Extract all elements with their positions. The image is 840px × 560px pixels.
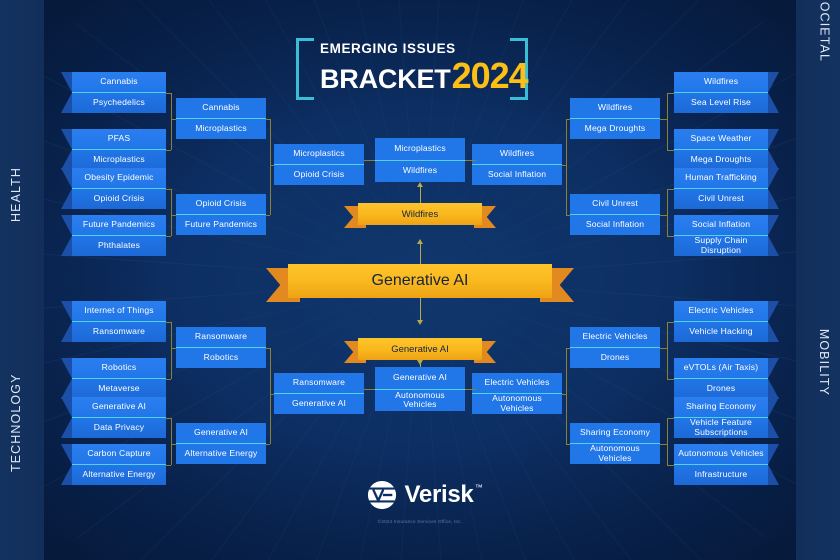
matchup-arrow-tail bbox=[61, 129, 72, 170]
matchup-arrow-tail bbox=[61, 397, 72, 438]
connector-v bbox=[667, 189, 668, 236]
matchup-round2-environmental-1[interactable]: Civil UnrestSocial Inflation bbox=[570, 194, 660, 235]
competitor-top[interactable]: Robotics bbox=[72, 358, 166, 379]
bottom-half-winner-ribbon: Generative AI bbox=[344, 338, 496, 360]
matchup-round1-environmental-0[interactable]: WildfiresSea Level Rise bbox=[674, 72, 768, 113]
connector-v bbox=[270, 119, 271, 215]
matchup-semifinal-bottom[interactable]: Generative AIAutonomous Vehicles bbox=[375, 367, 465, 411]
matchup-arrow-tail bbox=[61, 358, 72, 399]
matchup-round1-mobility-1[interactable]: eVTOLs (Air Taxis)Drones bbox=[674, 358, 768, 399]
connector-v bbox=[171, 189, 172, 236]
matchup-arrow-tail bbox=[61, 72, 72, 113]
connector-h bbox=[364, 389, 375, 390]
competitor-bottom[interactable]: Metaverse bbox=[72, 379, 166, 399]
matchup-arrow-tail bbox=[61, 444, 72, 485]
competitor-bottom[interactable]: Mega Droughts bbox=[674, 150, 768, 170]
competitor-bottom[interactable]: Robotics bbox=[176, 348, 266, 368]
matchup-arrow-tail bbox=[768, 168, 779, 209]
competitor-top[interactable]: Social Inflation bbox=[674, 215, 768, 236]
competitor-top[interactable]: Microplastics bbox=[274, 144, 364, 165]
competitor-top[interactable]: Electric Vehicles bbox=[674, 301, 768, 322]
matchup-round1-technology-2[interactable]: Generative AIData Privacy bbox=[72, 397, 166, 438]
connector-h bbox=[465, 160, 476, 161]
connector-h bbox=[667, 465, 674, 466]
matchup-round1-environmental-3[interactable]: Social InflationSupply Chain Disruption bbox=[674, 215, 768, 256]
competitor-bottom[interactable]: Ransomware bbox=[72, 322, 166, 342]
competitor-top[interactable]: Space Weather bbox=[674, 129, 768, 150]
competitor-bottom[interactable]: Future Pandemics bbox=[176, 215, 266, 235]
competitor-top[interactable]: Autonomous Vehicles bbox=[674, 444, 768, 465]
matchup-round1-technology-0[interactable]: Internet of ThingsRansomware bbox=[72, 301, 166, 342]
connector-h bbox=[667, 418, 674, 419]
matchup-arrow-tail bbox=[768, 358, 779, 399]
connector-h bbox=[166, 465, 171, 466]
connector-h bbox=[667, 93, 674, 94]
competitor-top[interactable]: Ransomware bbox=[176, 327, 266, 348]
connector-h bbox=[171, 119, 176, 120]
competitor-top[interactable]: PFAS bbox=[72, 129, 166, 150]
competitor-top[interactable]: Wildfires bbox=[674, 72, 768, 93]
connector-h bbox=[667, 236, 674, 237]
matchup-round1-health-1[interactable]: PFASMicroplastics bbox=[72, 129, 166, 170]
copyright-text: ©2024 Insurance Services Office, Inc. bbox=[0, 519, 840, 524]
connector-v bbox=[270, 348, 271, 444]
competitor-top[interactable]: Opioid Crisis bbox=[176, 194, 266, 215]
matchup-round2-environmental-0[interactable]: WildfiresMega Droughts bbox=[570, 98, 660, 139]
connector-h bbox=[660, 348, 667, 349]
connector-h bbox=[364, 160, 375, 161]
connector-h bbox=[171, 215, 176, 216]
verisk-wordmark: Verisk™ bbox=[405, 481, 474, 509]
competitor-bottom[interactable]: Opioid Crisis bbox=[72, 189, 166, 209]
competitor-bottom[interactable]: Drones bbox=[674, 379, 768, 399]
arrow-to-champion-top bbox=[420, 244, 421, 264]
connector-v bbox=[566, 119, 567, 215]
competitor-bottom[interactable]: Opioid Crisis bbox=[274, 165, 364, 185]
matchup-round2-technology-1[interactable]: Generative AIAlternative Energy bbox=[176, 423, 266, 464]
competitor-bottom[interactable]: Sea Level Rise bbox=[674, 93, 768, 113]
matchup-round2-mobility-1[interactable]: Sharing EconomyAutonomous Vehicles bbox=[570, 423, 660, 464]
matchup-round1-technology-1[interactable]: RoboticsMetaverse bbox=[72, 358, 166, 399]
connector-h bbox=[660, 119, 667, 120]
connector-h bbox=[566, 444, 570, 445]
competitor-top[interactable]: Generative AI bbox=[72, 397, 166, 418]
competitor-bottom[interactable]: Vehicle Hacking bbox=[674, 322, 768, 342]
connector-h bbox=[667, 150, 674, 151]
connector-h bbox=[562, 165, 566, 166]
competitor-top[interactable]: Generative AI bbox=[375, 367, 465, 390]
matchup-arrow-tail bbox=[768, 72, 779, 113]
connector-v bbox=[667, 418, 668, 465]
bottom-half-winner-ribbon-label: Generative AI bbox=[358, 338, 482, 360]
connector-h bbox=[266, 444, 270, 445]
connector-h bbox=[266, 215, 270, 216]
connector-h bbox=[660, 215, 667, 216]
matchup-arrow-tail bbox=[61, 301, 72, 342]
trademark-symbol: ™ bbox=[475, 483, 483, 492]
matchup-arrow-tail bbox=[768, 215, 779, 256]
connector-h bbox=[667, 322, 674, 323]
matchup-round1-technology-3[interactable]: Carbon CaptureAlternative Energy bbox=[72, 444, 166, 485]
competitor-bottom[interactable]: Supply Chain Disruption bbox=[674, 236, 768, 256]
connector-h bbox=[270, 394, 274, 395]
champion-ribbon: Generative AI bbox=[266, 264, 574, 298]
competitor-bottom[interactable]: Mega Droughts bbox=[570, 119, 660, 139]
competitor-top[interactable]: Ransomware bbox=[274, 373, 364, 394]
arrow-to-bottom-half-winner bbox=[420, 360, 421, 367]
arrow-to-champion-bottom bbox=[420, 298, 421, 320]
competitor-top[interactable]: Electric Vehicles bbox=[472, 373, 562, 394]
connector-h bbox=[166, 236, 171, 237]
connector-h bbox=[171, 348, 176, 349]
matchup-round2-health-1[interactable]: Opioid CrisisFuture Pandemics bbox=[176, 194, 266, 235]
competitor-bottom[interactable]: Generative AI bbox=[274, 394, 364, 414]
matchup-round2-health-0[interactable]: CannabisMicroplastics bbox=[176, 98, 266, 139]
matchup-round1-mobility-3[interactable]: Autonomous VehiclesInfrastructure bbox=[674, 444, 768, 485]
connector-h bbox=[667, 189, 674, 190]
competitor-top[interactable]: Wildfires bbox=[570, 98, 660, 119]
connector-h bbox=[166, 379, 171, 380]
competitor-top[interactable]: Microplastics bbox=[375, 138, 465, 161]
matchup-round1-environmental-2[interactable]: Human TraffickingCivil Unrest bbox=[674, 168, 768, 209]
competitor-bottom[interactable]: Autonomous Vehicles bbox=[570, 444, 660, 464]
competitor-bottom[interactable]: Psychedelics bbox=[72, 93, 166, 113]
connector-h bbox=[465, 389, 476, 390]
matchup-round2-mobility-0[interactable]: Electric VehiclesDrones bbox=[570, 327, 660, 368]
footer: Verisk™ ©2024 Insurance Services Office,… bbox=[0, 480, 840, 524]
matchup-arrow-tail bbox=[768, 129, 779, 170]
top-half-winner-ribbon: Wildfires bbox=[344, 203, 496, 225]
competitor-top[interactable]: Human Trafficking bbox=[674, 168, 768, 189]
connector-h bbox=[562, 394, 566, 395]
matchup-semifinal-top[interactable]: MicroplasticsWildfires bbox=[375, 138, 465, 182]
competitor-bottom[interactable]: Vehicle Feature Subscriptions bbox=[674, 418, 768, 438]
competitor-bottom[interactable]: Social Inflation bbox=[472, 165, 562, 185]
connector-h bbox=[171, 444, 176, 445]
matchup-round3-technology[interactable]: RansomwareGenerative AI bbox=[274, 373, 364, 414]
competitor-top[interactable]: Generative AI bbox=[176, 423, 266, 444]
matchup-round3-health[interactable]: MicroplasticsOpioid Crisis bbox=[274, 144, 364, 185]
matchup-arrow-tail bbox=[768, 444, 779, 485]
matchup-arrow-tail bbox=[61, 168, 72, 209]
competitor-bottom[interactable]: Phthalates bbox=[72, 236, 166, 256]
matchup-round1-environmental-1[interactable]: Space WeatherMega Droughts bbox=[674, 129, 768, 170]
competitor-bottom[interactable]: Wildfires bbox=[375, 161, 465, 183]
competitor-bottom[interactable]: Microplastics bbox=[176, 119, 266, 139]
competitor-top[interactable]: Internet of Things bbox=[72, 301, 166, 322]
competitor-top[interactable]: Electric Vehicles bbox=[570, 327, 660, 348]
competitor-top[interactable]: Obesity Epidemic bbox=[72, 168, 166, 189]
connector-h bbox=[667, 379, 674, 380]
connector-h bbox=[166, 150, 171, 151]
matchup-arrow-tail bbox=[768, 397, 779, 438]
matchup-round3-mobility[interactable]: Electric VehiclesAutonomous Vehicles bbox=[472, 373, 562, 414]
connector-v bbox=[566, 348, 567, 444]
arrow-to-top-half-winner bbox=[420, 187, 421, 203]
competitor-bottom[interactable]: Microplastics bbox=[72, 150, 166, 170]
matchup-round1-health-2[interactable]: Obesity EpidemicOpioid Crisis bbox=[72, 168, 166, 209]
competitor-bottom[interactable]: Civil Unrest bbox=[674, 189, 768, 209]
connector-h bbox=[660, 444, 667, 445]
verisk-logo: Verisk™ bbox=[367, 480, 474, 510]
top-half-winner-ribbon-label: Wildfires bbox=[358, 203, 482, 225]
competitor-top[interactable]: Future Pandemics bbox=[72, 215, 166, 236]
competitor-bottom[interactable]: Alternative Energy bbox=[176, 444, 266, 464]
competitor-top[interactable]: Wildfires bbox=[472, 144, 562, 165]
verisk-mark-icon bbox=[367, 480, 397, 510]
connector-v bbox=[667, 322, 668, 379]
matchup-round1-mobility-2[interactable]: Sharing EconomyVehicle Feature Subscript… bbox=[674, 397, 768, 438]
matchup-round2-technology-0[interactable]: RansomwareRobotics bbox=[176, 327, 266, 368]
champion-label: Generative AI bbox=[288, 264, 552, 298]
matchup-arrow-tail bbox=[61, 215, 72, 256]
competitor-top[interactable]: Cannabis bbox=[176, 98, 266, 119]
competitor-top[interactable]: Sharing Economy bbox=[674, 397, 768, 418]
bracket-canvas: HEALTH TECHNOLOGY ENVIRONMENTAL/SOCIETAL… bbox=[0, 0, 840, 560]
connector-v bbox=[667, 93, 668, 150]
competitor-bottom[interactable]: Autonomous Vehicles bbox=[472, 394, 562, 414]
matchup-round1-health-0[interactable]: CannabisPsychedelics bbox=[72, 72, 166, 113]
matchup-round1-health-3[interactable]: Future PandemicsPhthalates bbox=[72, 215, 166, 256]
competitor-top[interactable]: Sharing Economy bbox=[570, 423, 660, 444]
connector-v bbox=[171, 322, 172, 379]
competitor-top[interactable]: Carbon Capture bbox=[72, 444, 166, 465]
competitor-bottom[interactable]: Social Inflation bbox=[570, 215, 660, 235]
matchup-round1-mobility-0[interactable]: Electric VehiclesVehicle Hacking bbox=[674, 301, 768, 342]
competitor-top[interactable]: eVTOLs (Air Taxis) bbox=[674, 358, 768, 379]
connector-h bbox=[566, 215, 570, 216]
competitor-bottom[interactable]: Drones bbox=[570, 348, 660, 368]
connector-v bbox=[171, 418, 172, 465]
competitor-bottom[interactable]: Autonomous Vehicles bbox=[375, 390, 465, 412]
competitor-top[interactable]: Cannabis bbox=[72, 72, 166, 93]
competitor-top[interactable]: Civil Unrest bbox=[570, 194, 660, 215]
connector-h bbox=[270, 165, 274, 166]
competitor-bottom[interactable]: Data Privacy bbox=[72, 418, 166, 438]
matchup-arrow-tail bbox=[768, 301, 779, 342]
connector-v bbox=[171, 93, 172, 150]
matchup-round3-environmental[interactable]: WildfiresSocial Inflation bbox=[472, 144, 562, 185]
